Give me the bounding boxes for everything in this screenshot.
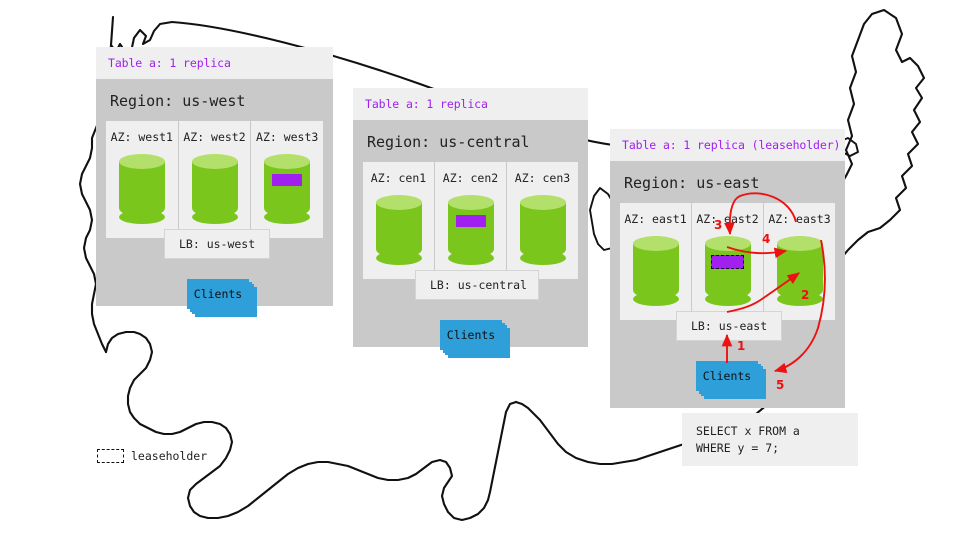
lb-label-us-west: LB: us-west [179,237,255,251]
az-cell-west1[interactable]: AZ: west1 [106,121,179,238]
clients-label-us-central[interactable]: Clients [440,320,502,350]
step-number-3: 3 [714,218,722,232]
az-cell-east1[interactable]: AZ: east1 [620,203,692,320]
cylinder-body [119,161,165,217]
az-label-west2: AZ: west2 [179,130,251,144]
clients-us-central[interactable]: Clients [440,320,502,350]
az-cell-west3[interactable]: AZ: west3 [251,121,323,238]
step-number-1: 1 [737,339,745,353]
clients-us-east[interactable]: Clients [696,361,758,391]
region-panel-us-east: Table a: 1 replica (leaseholder) Region:… [610,129,845,408]
cylinder-top [705,236,751,251]
az-label-east1: AZ: east1 [620,212,691,226]
az-cell-cen2[interactable]: AZ: cen2 [435,162,507,279]
load-balancer-us-east[interactable]: LB: us-east [676,311,782,341]
table-header-us-central: Table a: 1 replica [353,88,588,120]
step-number-2: 2 [801,288,809,302]
cylinder-top [633,236,679,251]
cylinder-body [520,202,566,258]
az-cell-west2[interactable]: AZ: west2 [179,121,252,238]
node-cylinder-west2[interactable] [192,154,238,224]
legend: leaseholder [97,449,207,463]
az-row-us-east: AZ: east1 AZ: east2 [620,203,835,320]
region-panel-us-central: Table a: 1 replica Region: us-central AZ… [353,88,588,347]
cylinder-top [777,236,823,251]
region-title-us-central: Region: us-central [363,120,578,162]
cylinder-body [705,243,751,299]
az-row-us-central: AZ: cen1 AZ: cen2 [363,162,578,279]
step-number-5: 5 [776,378,784,392]
sql-query-box: SELECT x FROM a WHERE y = 7; [682,413,858,466]
az-label-cen2: AZ: cen2 [435,171,506,185]
node-cylinder-west3[interactable] [264,154,310,224]
region-body-us-central: Region: us-central AZ: cen1 AZ: cen2 [353,120,588,347]
replica-marker-cen2 [456,215,486,227]
leaseholder-dashed-swatch [97,449,124,463]
cylinder-body [777,243,823,299]
region-title-us-west: Region: us-west [106,79,323,121]
cylinder-top [376,195,422,210]
legend-label-leaseholder: leaseholder [131,449,207,463]
cylinder-top [192,154,238,169]
cylinder-top [520,195,566,210]
region-panel-us-west: Table a: 1 replica Region: us-west AZ: w… [96,47,333,306]
az-label-cen3: AZ: cen3 [507,171,578,185]
node-cylinder-east3[interactable] [777,236,823,306]
node-cylinder-east1[interactable] [633,236,679,306]
az-cell-cen1[interactable]: AZ: cen1 [363,162,435,279]
replica-marker-west3 [272,174,302,186]
clients-us-west[interactable]: Clients [187,279,249,309]
cylinder-body [192,161,238,217]
lb-label-us-central: LB: us-central [430,278,527,292]
az-cell-cen3[interactable]: AZ: cen3 [507,162,578,279]
table-header-us-west: Table a: 1 replica [96,47,333,79]
table-header-us-east: Table a: 1 replica (leaseholder) [610,129,845,161]
az-label-west1: AZ: west1 [106,130,178,144]
node-cylinder-east2[interactable] [705,236,751,306]
node-cylinder-cen2[interactable] [448,195,494,265]
az-row-us-west: AZ: west1 AZ: west2 AZ [106,121,323,238]
az-cell-east3[interactable]: AZ: east3 [764,203,835,320]
node-cylinder-cen1[interactable] [376,195,422,265]
load-balancer-us-central[interactable]: LB: us-central [415,270,539,300]
az-label-east2: AZ: east2 [692,212,763,226]
cylinder-top [448,195,494,210]
cylinder-body [264,161,310,217]
clients-label-us-east[interactable]: Clients [696,361,758,391]
node-cylinder-cen3[interactable] [520,195,566,265]
lb-label-us-east: LB: us-east [691,319,767,333]
cylinder-top [264,154,310,169]
load-balancer-us-west[interactable]: LB: us-west [164,229,270,259]
node-cylinder-west1[interactable] [119,154,165,224]
clients-label-us-west[interactable]: Clients [187,279,249,309]
cylinder-body [448,202,494,258]
az-label-west3: AZ: west3 [251,130,323,144]
az-label-east3: AZ: east3 [764,212,835,226]
cylinder-body [376,202,422,258]
region-body-us-west: Region: us-west AZ: west1 AZ: west2 [96,79,333,306]
az-cell-east2[interactable]: AZ: east2 [692,203,764,320]
step-number-4: 4 [762,232,770,246]
cylinder-body [633,243,679,299]
region-title-us-east: Region: us-east [620,161,835,203]
replica-marker-east2-leaseholder [711,255,744,269]
az-label-cen1: AZ: cen1 [363,171,434,185]
cylinder-top [119,154,165,169]
